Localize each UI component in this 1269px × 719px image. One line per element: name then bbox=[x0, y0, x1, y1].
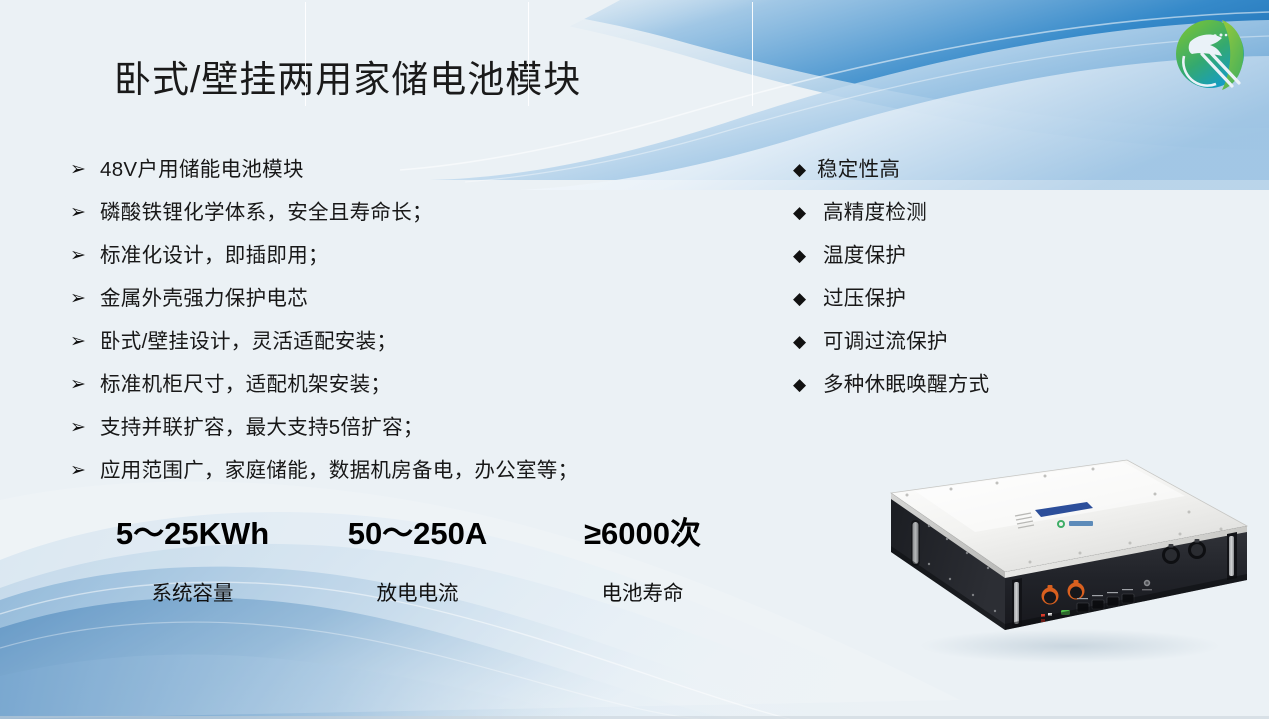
list-item: ➢ 卧式/壁挂设计，灵活适配安装； bbox=[70, 320, 730, 363]
list-item: ➢ 金属外壳强力保护电芯 bbox=[70, 277, 730, 320]
list-item: ➢ 标准化设计，即插即用； bbox=[70, 234, 730, 277]
list-item: ➢ 应用范围广，家庭储能，数据机房备电，办公室等； bbox=[70, 449, 730, 492]
spec-value: 50～250A bbox=[348, 512, 488, 556]
arrow-bullet-icon: ➢ bbox=[70, 449, 100, 492]
list-item-label: 多种休眠唤醒方式 bbox=[823, 363, 989, 406]
list-item-label: 稳定性高 bbox=[817, 148, 900, 191]
page-title: 卧式/壁挂两用家储电池模块 bbox=[114, 55, 581, 105]
list-item: ◆ 过压保护 bbox=[793, 277, 1093, 320]
spec-divider bbox=[528, 2, 529, 106]
arrow-bullet-icon: ➢ bbox=[70, 320, 100, 363]
spec-value: ≥6000次 bbox=[584, 512, 701, 556]
list-item-label: 温度保护 bbox=[823, 234, 906, 277]
slide-canvas: 卧式/壁挂两用家储电池模块 ➢ 48V户用储能电池模块 ➢ 磷酸铁锂化学体系，安… bbox=[0, 0, 1269, 719]
arrow-bullet-icon: ➢ bbox=[70, 406, 100, 449]
arrow-bullet-icon: ➢ bbox=[70, 148, 100, 191]
spec-label: 电池寿命 bbox=[602, 577, 684, 611]
arrow-bullet-icon: ➢ bbox=[70, 277, 100, 320]
rack-mount-battery-module-photo bbox=[855, 440, 1255, 670]
diamond-bullet-icon: ◆ bbox=[793, 363, 823, 406]
list-item: ◆ 温度保护 bbox=[793, 234, 1093, 277]
list-item: ◆ 可调过流保护 bbox=[793, 320, 1093, 363]
diamond-bullet-icon: ◆ bbox=[793, 234, 823, 277]
spec-value: 5～25KWh bbox=[116, 512, 269, 556]
features-right-column: ◆ 稳定性高 ◆ 高精度检测 ◆ 温度保护 ◆ 过压保护 ◆ 可调过流保护 ◆ … bbox=[793, 148, 1093, 406]
list-item: ➢ 标准机柜尺寸，适配机架安装； bbox=[70, 363, 730, 406]
arrow-bullet-icon: ➢ bbox=[70, 234, 100, 277]
list-item-label: 卧式/壁挂设计，灵活适配安装； bbox=[100, 320, 397, 363]
company-leaf-logo bbox=[1160, 8, 1260, 100]
list-item: ➢ 支持并联扩容，最大支持5倍扩容； bbox=[70, 406, 730, 449]
diamond-bullet-icon: ◆ bbox=[793, 320, 823, 363]
features-left-column: ➢ 48V户用储能电池模块 ➢ 磷酸铁锂化学体系，安全且寿命长； ➢ 标准化设计… bbox=[70, 148, 730, 492]
list-item-label: 高精度检测 bbox=[823, 191, 927, 234]
diamond-bullet-icon: ◆ bbox=[793, 277, 823, 320]
list-item: ◆ 多种休眠唤醒方式 bbox=[793, 363, 1093, 406]
list-item-label: 标准机柜尺寸，适配机架安装； bbox=[100, 363, 391, 406]
list-item-label: 金属外壳强力保护电芯 bbox=[100, 277, 308, 320]
list-item: ➢ 48V户用储能电池模块 bbox=[70, 148, 730, 191]
list-item-label: 应用范围广，家庭储能，数据机房备电，办公室等； bbox=[100, 449, 578, 492]
spec-divider bbox=[305, 2, 306, 106]
arrow-bullet-icon: ➢ bbox=[70, 191, 100, 234]
list-item: ➢ 磷酸铁锂化学体系，安全且寿命长； bbox=[70, 191, 730, 234]
list-item: ◆ 稳定性高 bbox=[793, 148, 1093, 191]
spec-divider bbox=[752, 2, 753, 106]
spec-label: 系统容量 bbox=[152, 577, 234, 611]
list-item: ◆ 高精度检测 bbox=[793, 191, 1093, 234]
list-item-label: 可调过流保护 bbox=[823, 320, 948, 363]
list-item-label: 磷酸铁锂化学体系，安全且寿命长； bbox=[100, 191, 433, 234]
spec-label: 放电电流 bbox=[377, 577, 459, 611]
spec-system-capacity: 5～25KWh 系统容量 bbox=[80, 512, 305, 620]
list-item-label: 48V户用储能电池模块 bbox=[100, 148, 304, 191]
diamond-bullet-icon: ◆ bbox=[793, 191, 823, 234]
key-specs-strip: 5～25KWh 系统容量 50～250A 放电电流 ≥6000次 电池寿命 bbox=[80, 512, 755, 620]
spec-discharge-current: 50～250A 放电电流 bbox=[305, 512, 530, 620]
spec-battery-life: ≥6000次 电池寿命 bbox=[530, 512, 755, 620]
arrow-bullet-icon: ➢ bbox=[70, 363, 100, 406]
list-item-label: 标准化设计，即插即用； bbox=[100, 234, 329, 277]
list-item-label: 支持并联扩容，最大支持5倍扩容； bbox=[100, 406, 424, 449]
list-item-label: 过压保护 bbox=[823, 277, 906, 320]
